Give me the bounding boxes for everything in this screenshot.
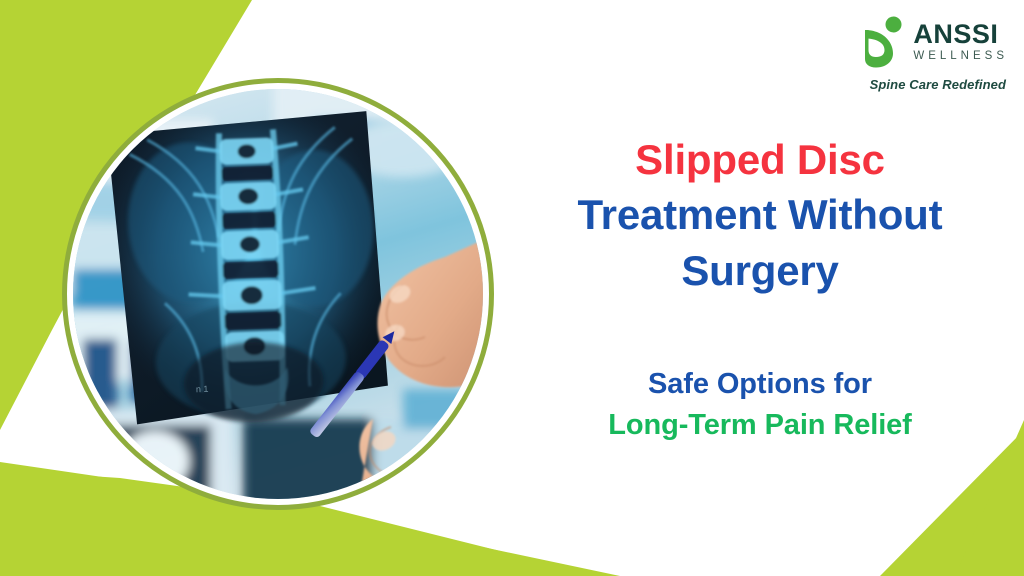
headline: Slipped Disc Treatment Without Surgery [530, 132, 990, 298]
subheadline-line-2: Long-Term Pain Relief [530, 405, 990, 446]
logo-row: ANSSI WELLNESS [828, 14, 1008, 70]
headline-line-1: Slipped Disc [530, 132, 990, 187]
logo-brand-sub: WELLNESS [913, 51, 1008, 63]
headline-line-3: Surgery [530, 243, 990, 298]
logo-wordmark: ANSSI WELLNESS [913, 21, 1008, 63]
anssi-crescent-dot-icon [860, 16, 906, 68]
logo-brand-name: ANSSI [913, 21, 1008, 48]
brand-logo[interactable]: ANSSI WELLNESS Spine Care Redefined [828, 14, 1008, 92]
spine-xray-illustration: n 1 [73, 89, 483, 499]
subheadline-line-1: Safe Options for [530, 364, 990, 405]
svg-text:n 1: n 1 [196, 384, 209, 394]
spine-xray-photo: n 1 [73, 89, 483, 499]
promo-banner: n 1 [0, 0, 1024, 576]
subheadline: Safe Options for Long-Term Pain Relief [530, 364, 990, 446]
logo-tagline: Spine Care Redefined [828, 77, 1008, 92]
headline-line-2: Treatment Without [530, 187, 990, 242]
